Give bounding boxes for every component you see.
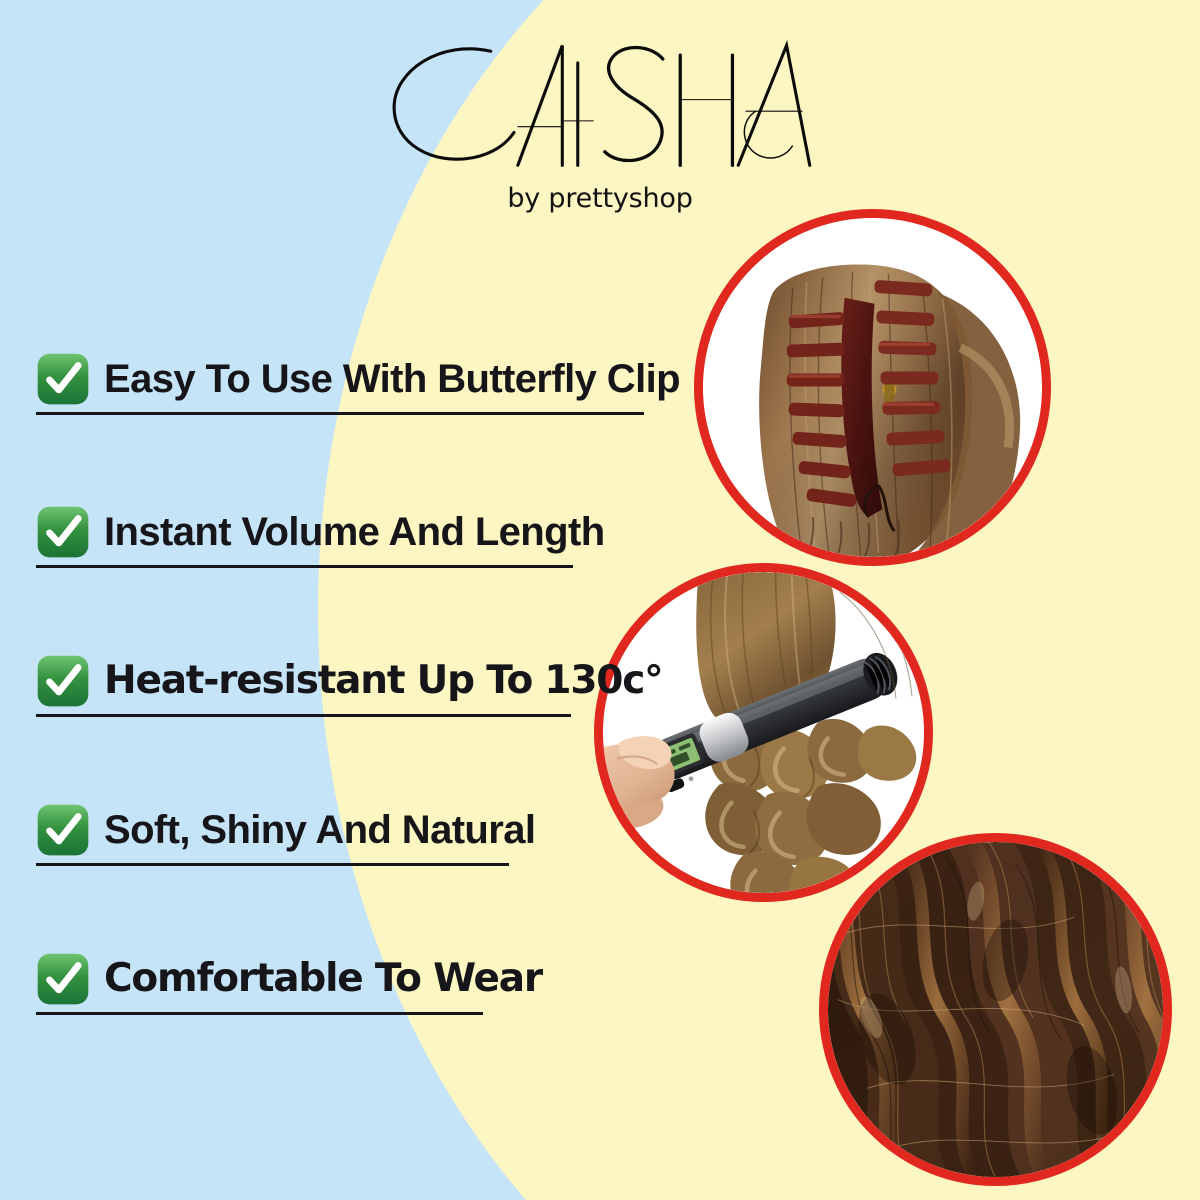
feature-item: Soft, Shiny And Natural — [36, 803, 676, 866]
feature-label: Soft, Shiny And Natural — [104, 809, 535, 851]
check-badge-icon — [36, 654, 90, 708]
butterfly-clip-illustration — [703, 218, 1042, 557]
brand-tagline: by prettyshop — [0, 183, 1200, 214]
wavy-hair-texture — [819, 833, 1172, 1186]
feature-label: Easy To Use With Butterfly Clip — [104, 358, 680, 400]
feature-underline — [36, 863, 509, 866]
feature-label: Comfortable To Wear — [104, 959, 542, 1000]
wavy-hair-illustration — [828, 842, 1163, 1177]
butterfly-clip-closeup — [694, 209, 1051, 566]
photo-frame — [828, 842, 1163, 1177]
feature-underline — [36, 1012, 483, 1015]
feature-item: Comfortable To Wear — [36, 952, 676, 1015]
feature-underline — [36, 714, 571, 717]
product-infographic: by prettyshop Easy To Use With Butte — [0, 0, 1200, 1200]
feature-label: Heat-resistant Up To 130c° — [104, 661, 662, 702]
check-badge-icon — [36, 803, 90, 857]
check-badge-icon — [36, 952, 90, 1006]
photo-frame — [703, 218, 1042, 557]
check-badge-icon — [36, 352, 90, 406]
feature-item: Easy To Use With Butterfly Clip — [36, 352, 676, 415]
feature-underline — [36, 565, 573, 568]
feature-item: Heat-resistant Up To 130c° — [36, 654, 676, 717]
feature-item: Instant Volume And Length — [36, 505, 676, 568]
feature-underline — [36, 412, 644, 415]
feature-list: Easy To Use With Butterfly Clip Instant … — [36, 352, 676, 1015]
caisha-wordmark-icon — [365, 30, 835, 175]
brand-logo: by prettyshop — [0, 30, 1200, 214]
feature-label: Instant Volume And Length — [104, 511, 605, 553]
check-badge-icon — [36, 505, 90, 559]
